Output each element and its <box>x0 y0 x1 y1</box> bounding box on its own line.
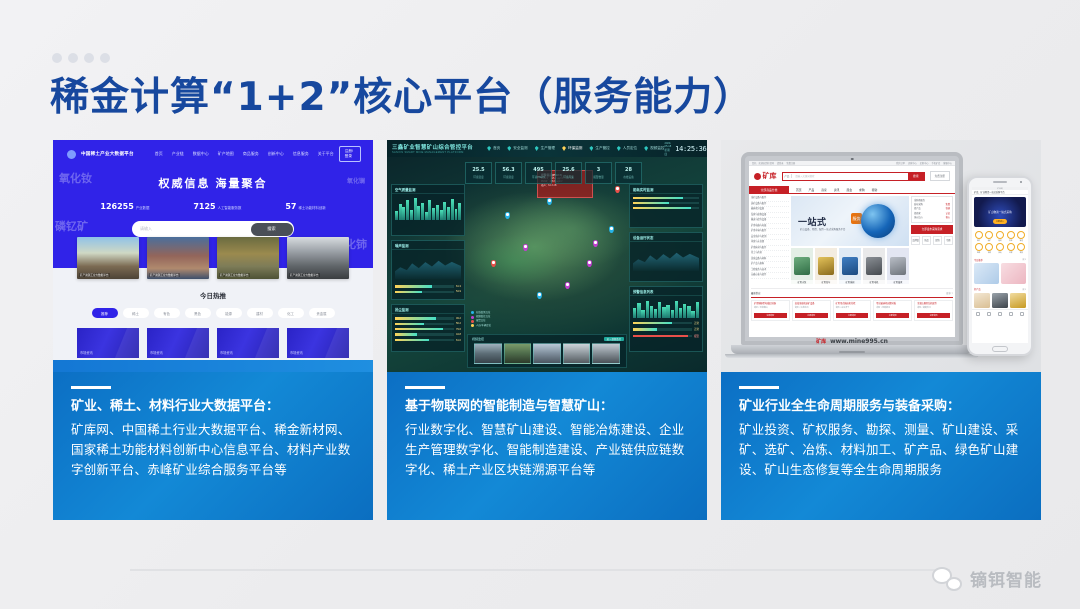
row-bar <box>395 333 454 335</box>
product-card[interactable]: 矿用绞车 <box>815 248 837 284</box>
box-row: 询价比价省心 <box>914 216 950 220</box>
portal-stat: 57 稀土功能材料创新 <box>285 202 325 211</box>
portal-stat-label: 稀土功能材料创新 <box>298 205 325 210</box>
product-row: 矿用水泵 矿用绞车 矿用球阀 矿用电机 矿用轴承 <box>791 248 909 284</box>
hero-banner[interactable]: 一站式 服务 矿山设备、物资、配件一站式采购服务平台 <box>791 196 909 246</box>
laptop-base <box>731 345 973 354</box>
row-bar <box>633 335 692 337</box>
url-brand: 矿库 <box>816 338 826 345</box>
tab-home[interactable]: 首页 <box>487 146 500 151</box>
kpi-card: 25.6环境风速 <box>555 162 582 184</box>
portal-image-caption: 矿产资源工业大数据平台 <box>289 273 320 277</box>
portal-menu-item[interactable]: 创新中心 <box>268 151 284 157</box>
caption-heading: 基于物联网的智能制造与智慧矿山： <box>405 398 691 416</box>
phone-tabbar <box>972 309 1028 316</box>
tab-personnel[interactable]: 人员定位 <box>617 146 637 151</box>
phone-mockup: 矿库网 矿库，矿业物资一站式采购平台 矿山物资一站式采购 立即进入 采矿 选矿 … <box>967 176 1033 356</box>
chart-area <box>633 245 699 271</box>
kpi-value: 56.3 <box>502 167 514 173</box>
phone-banner[interactable]: 矿山物资一站式采购 立即进入 <box>974 197 1026 227</box>
row-bar <box>395 285 454 287</box>
grid-label: 环保 <box>1009 252 1012 254</box>
item-meta: 询价 / 江苏徐州 <box>795 307 828 311</box>
tab-environment[interactable]: 环保监测 <box>562 146 582 151</box>
topbar-link[interactable]: 我的订单 <box>896 161 905 165</box>
tab-label: 生产管理 <box>541 146 555 151</box>
camera-thumb[interactable] <box>563 343 591 364</box>
portal-pill-row: 推荐 稀土 有色 黑色 能源 建材 化工 贵金属 <box>53 308 373 318</box>
row-value: 56.2 <box>456 322 461 325</box>
portal-menu-item[interactable]: 数据中心 <box>193 151 209 157</box>
portal-ghost-word: 氧化钕 <box>59 170 92 186</box>
portal-image-card[interactable]: 矿产资源工业大数据平台 <box>217 237 279 279</box>
panel-row: 正常 <box>633 321 699 325</box>
site-search-bar[interactable]: 产品 请输入关键词搜索 搜索 <box>782 172 925 181</box>
camera-thumb[interactable] <box>533 343 561 364</box>
caption-body: 行业数字化、智慧矿山建设、智能冶炼建设、企业生产管理数字化、智能制造建设、产业链… <box>405 420 691 481</box>
portal-menu-item[interactable]: 首页 <box>155 151 163 157</box>
topbar-link[interactable]: 免费注册 <box>786 161 795 165</box>
camera-title: 视频监控 <box>472 337 484 341</box>
portal-tile-label: 市场资讯 <box>220 350 233 355</box>
wechat-bubble-small <box>946 577 962 591</box>
portal-tile[interactable]: 市场资讯 <box>217 328 279 358</box>
phone-grid-item[interactable]: 电器 <box>974 243 983 254</box>
pin-icon <box>589 146 593 151</box>
phone-product-row <box>972 291 1028 309</box>
row-value: 报警 <box>694 334 699 338</box>
product-label: 矿用轴承 <box>887 280 909 284</box>
portal-pill[interactable]: 化工 <box>278 308 304 318</box>
panel-header: 噪声监测 <box>392 241 464 250</box>
category-icon <box>996 231 1004 239</box>
camera-thumbnails <box>470 343 624 364</box>
item-button[interactable]: 立即询价 <box>795 313 828 318</box>
portal-slogan: 权威信息 海量聚合 <box>53 175 373 191</box>
site-header: 矿库 产品 请输入关键词搜索 搜索 免费注册 <box>749 166 955 186</box>
caption-heading: 矿业、稀土、材料行业大数据平台： <box>71 398 357 416</box>
section-more-link[interactable]: 更多 <box>1022 288 1026 291</box>
topbar-link[interactable]: 卖家中心 <box>908 161 917 165</box>
card-lifecycle-service: 您好，欢迎来到矿库网 请登录 免费注册 我的订单 卖家中心 买家中心 手机矿库 … <box>721 140 1041 520</box>
phone-product-card[interactable] <box>992 293 1008 308</box>
portal-image-card[interactable]: 矿产资源工业大数据平台 <box>287 237 349 279</box>
portal-stat-value: 7125 <box>193 202 215 211</box>
globe-icon <box>861 204 895 238</box>
panel-row <box>633 202 699 204</box>
camera-thumb[interactable] <box>474 343 502 364</box>
decor-dot <box>84 53 94 63</box>
nav-item[interactable]: 资讯 <box>834 188 840 192</box>
section-title: 好产品 <box>974 287 981 291</box>
chip[interactable]: 新品 <box>922 236 931 245</box>
portal-tile[interactable]: 市场资讯 <box>147 328 209 358</box>
tab-video[interactable]: 视频监控 <box>644 146 664 151</box>
list-more-link[interactable]: 更多 > <box>946 291 953 295</box>
list-title: 最新供应 <box>751 291 761 295</box>
phone-grid-item[interactable]: 耗材 <box>1017 243 1026 254</box>
portal-search-button[interactable]: 搜索 <box>251 223 293 236</box>
panel-header: 空气质量监测 <box>392 185 464 194</box>
caption-heading: 矿业行业全生命周期服务与装备采购： <box>739 398 1025 416</box>
portal-menu-item[interactable]: 矿产地图 <box>218 151 234 157</box>
category-sidebar: 采矿设备与配件 选矿设备与配件 破碎筛分设备 钻探与勘探设备 输送与提升设备 矿… <box>751 196 789 284</box>
grid-label: 车辆 <box>988 252 991 254</box>
pin-icon <box>644 146 648 151</box>
topbar-link[interactable]: 客服中心 <box>943 161 952 165</box>
portal-menu-item[interactable]: 关于平台 <box>318 151 334 157</box>
panel-title: 设备运行状态 <box>633 235 653 240</box>
nav-all-categories[interactable]: 全部商品分类 <box>749 186 789 193</box>
promo-card[interactable] <box>974 263 999 284</box>
site-main: 一站式 服务 矿山设备、物资、配件一站式采购服务平台 矿用水泵 矿用绞车 矿用球… <box>791 196 909 284</box>
row-key: 询价比价 <box>914 216 923 220</box>
topbar-link[interactable]: 买家中心 <box>920 161 929 165</box>
nav-item[interactable]: 商家 <box>821 188 827 192</box>
tab-safety[interactable]: 安全监测 <box>507 146 527 151</box>
panel-row: 56.2 <box>395 322 461 325</box>
topbar-link[interactable]: 请登录 <box>777 161 784 165</box>
product-label: 矿用水泵 <box>791 280 813 284</box>
phone-product-card[interactable] <box>1010 293 1026 308</box>
portal-tile[interactable]: 市场资讯 <box>287 328 349 358</box>
portal-ghost-word: 氧化镧 <box>347 176 365 185</box>
portal-pill[interactable]: 建材 <box>247 308 273 318</box>
kpi-card: 3报警数量 <box>585 162 612 184</box>
grid-label: 选矿 <box>988 240 991 242</box>
site-body: 采矿设备与配件 选矿设备与配件 破碎筛分设备 钻探与勘探设备 输送与提升设备 矿… <box>749 194 955 286</box>
portal-stat-value: 126255 <box>100 202 133 211</box>
portal-stat: 126255 产业数据 <box>100 202 149 211</box>
topbar-link[interactable]: 手机矿库 <box>932 161 941 165</box>
panel-row: 49.2 <box>395 317 461 320</box>
phone-grid-item[interactable]: 输送 <box>1017 231 1026 242</box>
tab-label: 安全监测 <box>513 146 527 151</box>
item-meta: 询价 / 河南郑州 <box>876 307 909 311</box>
url-text: www.mine995.cn <box>830 338 888 345</box>
chart-bars <box>392 194 464 220</box>
phone-camera-icon <box>1020 181 1022 183</box>
quick-chips: 品牌馆 新品 促销 专题 <box>911 236 953 245</box>
nav-item[interactable]: 产品 <box>809 188 815 192</box>
pin-icon <box>507 146 511 151</box>
category-icon <box>996 243 1004 251</box>
portal-search-placeholder: 请输入 <box>140 226 152 232</box>
portal-pill[interactable]: 能源 <box>216 308 242 318</box>
site-right-rail: 采购商服务 发布采购免费 找产品快捷 找商家认证 询价比价省心 立即发布采购需求… <box>911 196 953 284</box>
portal-stat-label: 产业数据 <box>136 205 150 210</box>
portal-footer-bar <box>53 360 373 372</box>
panel-rows: 49.2 56.2 79.6 44.8 61.0 <box>392 314 464 345</box>
section-more-link[interactable]: 更多 <box>1022 258 1026 261</box>
camera-thumb[interactable] <box>504 343 532 364</box>
phone-banner-cta[interactable]: 立即进入 <box>993 219 1007 224</box>
portal-stat-label: 人工智能服务数 <box>218 205 242 210</box>
panel-row: 61.0 <box>395 339 461 342</box>
list-item[interactable]: 矿用隔爆型电磁起动器询价 / 河北唐山立即询价 <box>751 300 790 321</box>
category-icon <box>985 243 993 251</box>
kpi-label: 环境温度 <box>473 175 483 179</box>
dashboard-topbar: 三鑫矿业智慧矿山综合管控平台 SANXIN SMART MINE MANAGEM… <box>387 140 707 157</box>
portal-image-caption: 矿产资源工业大数据平台 <box>149 273 180 277</box>
alert-line: 噪声：64.3 dB <box>541 184 589 187</box>
nav-item[interactable]: 求购 <box>859 188 865 192</box>
item-button[interactable]: 立即询价 <box>917 313 950 318</box>
dashboard-clock: 2023-05-18 星期四 14:25:36 <box>665 142 707 156</box>
clock-time: 14:25:36 <box>675 145 706 153</box>
row-value: 79.6 <box>456 328 461 331</box>
portal-pill[interactable]: 推荐 <box>92 308 118 318</box>
panel-row <box>633 207 699 209</box>
row-bar <box>633 322 692 324</box>
tab-label: 生产管控 <box>595 146 609 151</box>
search-category-select[interactable]: 产品 <box>783 174 793 178</box>
pin-icon <box>562 146 566 151</box>
legend-row: 人员/车辆定位 <box>471 324 491 328</box>
row-value: 61.3 <box>456 285 461 288</box>
dashboard-camera-strip: 视频监控 进入视频监控 <box>467 334 627 368</box>
pin-icon <box>535 146 539 151</box>
grid-label: 耗材 <box>1020 252 1023 254</box>
page-title: 稀金计算“1+2”核心平台（服务能力） <box>50 66 753 122</box>
panel-row: 54.9 <box>395 290 461 293</box>
phone-grid-item[interactable]: 采矿 <box>974 231 983 242</box>
product-image <box>818 257 834 275</box>
decor-dot <box>52 53 62 63</box>
tab-home-icon[interactable] <box>976 312 980 316</box>
laptop-lid: 您好，欢迎来到矿库网 请登录 免费注册 我的订单 卖家中心 买家中心 手机矿库 … <box>741 152 963 345</box>
phone-speaker-icon <box>993 181 1007 183</box>
clock-date: 2023-05-18 星期四 <box>665 142 672 156</box>
phone-grid-item[interactable]: 车辆 <box>985 243 994 254</box>
panel-alerts: 预警信息列表 正常 正常 报警 <box>629 286 703 352</box>
decor-dot <box>100 53 110 63</box>
phone-screen: 矿库网 矿库，矿业物资一站式采购平台 矿山物资一站式采购 立即进入 采矿 选矿 … <box>972 187 1028 343</box>
row-bar <box>633 207 699 209</box>
portal-tile-label: 市场资讯 <box>80 350 93 355</box>
tab-label: 人员定位 <box>623 146 637 151</box>
legend-swatch-monitor-icon <box>471 311 474 314</box>
phone-banner-text: 矿山物资一站式采购 <box>988 210 1011 214</box>
chip[interactable]: 品牌馆 <box>911 236 920 245</box>
pin-icon <box>487 146 491 151</box>
legend-swatch-alarm-icon <box>471 320 474 323</box>
phone-grid-item[interactable]: 安防 <box>995 243 1004 254</box>
tab-profile-icon[interactable] <box>1020 312 1024 316</box>
tab-label: 视频监控 <box>650 146 664 151</box>
portal-tile-label: 市场资讯 <box>290 350 303 355</box>
register-button[interactable]: 免费注册 <box>930 171 950 181</box>
product-card[interactable]: 矿用轴承 <box>887 248 909 284</box>
row-val: 省心 <box>946 216 950 220</box>
panel-header: 扬尘监测 <box>392 305 464 314</box>
kpi-label: 环境PM2.5 <box>532 175 545 179</box>
grid-label: 采矿 <box>977 240 980 242</box>
phone-grid-item[interactable]: 环保 <box>1006 243 1015 254</box>
product-card[interactable]: 矿用球阀 <box>839 248 861 284</box>
phone-product-card[interactable] <box>974 293 990 308</box>
list-header: 最新供应 更多 > <box>751 289 953 298</box>
phone-grid-item[interactable]: 破碎 <box>995 231 1004 242</box>
tab-label: 首页 <box>493 146 500 151</box>
portal-pill[interactable]: 有色 <box>154 308 180 318</box>
list-item[interactable]: 全液压履带钻机配件询价 / 湖南长沙立即询价 <box>914 300 953 321</box>
phone-grid-item[interactable]: 钻探 <box>1006 231 1015 242</box>
banner-subtext: 矿山设备、物资、配件一站式采购服务平台 <box>800 227 845 231</box>
screenshot-rare-earth-portal: 中国稀土产业大数据平台 首页 产业链 数据中心 矿产地图 商品服务 创新中心 信… <box>53 140 373 372</box>
grid-label: 输送 <box>1020 240 1023 242</box>
tab-label: 环保监测 <box>568 146 582 151</box>
caption-rule <box>739 386 779 389</box>
panel-air-quality: 空气质量监测 <box>391 184 465 236</box>
product-image <box>842 257 858 275</box>
panel-title: 空气质量监测 <box>395 187 415 192</box>
chart-area <box>395 253 461 279</box>
product-image <box>794 257 810 275</box>
product-image <box>890 257 906 275</box>
caption-box: 矿业行业全生命周期服务与装备采购： 矿业投资、矿权服务、勘探、测量、矿山建设、采… <box>721 372 1041 520</box>
portal-logo-icon <box>67 150 76 159</box>
panel-title: 能耗实时监测 <box>633 187 653 192</box>
portal-tile-label: 市场资讯 <box>150 350 163 355</box>
tab-message-icon[interactable] <box>1009 312 1013 316</box>
tab-cart-icon[interactable] <box>998 312 1002 316</box>
laptop-notch <box>839 351 865 353</box>
product-card[interactable]: 矿用水泵 <box>791 248 813 284</box>
sidebar-item[interactable]: 仪器仪表与软件 <box>751 273 789 279</box>
nav-item[interactable]: 帮助 <box>872 188 878 192</box>
product-card[interactable]: 矿用电机 <box>863 248 885 284</box>
portal-hot-title: 今日热推 <box>53 290 373 300</box>
panel-rows <box>630 194 702 212</box>
wechat-icon <box>932 567 962 591</box>
product-label: 矿用电机 <box>863 280 885 284</box>
portal-pill[interactable]: 贵金属 <box>309 308 335 318</box>
row-value: 61.0 <box>456 339 461 342</box>
url-badge: 矿库 www.mine995.cn <box>741 338 963 345</box>
portal-image-cards: 矿产资源工业大数据平台 矿产资源工业大数据平台 矿产资源工业大数据平台 矿产资源… <box>53 237 373 279</box>
category-icon <box>985 231 993 239</box>
panel-energy: 能耗实时监测 <box>629 184 703 228</box>
row-bar <box>395 328 454 330</box>
portal-image-caption: 矿产资源工业大数据平台 <box>79 273 110 277</box>
category-icon <box>1017 231 1025 239</box>
portal-image-card[interactable]: 矿产资源工业大数据平台 <box>147 237 209 279</box>
phone-home-button[interactable] <box>992 346 1008 352</box>
watermark-text: 镝铒智能 <box>970 566 1042 591</box>
site-logo[interactable]: 矿库 <box>754 171 777 181</box>
row-value: 正常 <box>694 327 699 331</box>
tab-category-icon[interactable] <box>987 312 991 316</box>
dashboard-map-legend: 在线监测点位 视频监控点位 报警点位 人员/车辆定位 <box>471 311 491 328</box>
category-icon <box>1017 243 1025 251</box>
portal-pill[interactable]: 稀土 <box>123 308 149 318</box>
nav-item[interactable]: 首页 <box>796 188 802 192</box>
buyer-service-box: 采购商服务 发布采购免费 找产品快捷 找商家认证 询价比价省心 <box>911 196 953 223</box>
panel-rows: 正常 正常 报警 <box>630 318 702 341</box>
decor-dots <box>52 53 110 63</box>
tab-production[interactable]: 生产管理 <box>535 146 555 151</box>
kpi-value: 495 <box>533 167 543 173</box>
slide-root: 稀金计算“1+2”核心平台（服务能力） 中国稀土产业大数据平台 首页 产业链 数… <box>0 0 1080 609</box>
panel-title: 扬尘监测 <box>395 307 409 312</box>
search-submit-button[interactable]: 搜索 <box>908 173 924 180</box>
phone-icon-grid: 采矿 选矿 破碎 钻探 输送 电器 车辆 安防 环保 耗材 <box>972 229 1028 256</box>
portal-image-card[interactable]: 矿产资源工业大数据平台 <box>77 237 139 279</box>
portal-menu-item[interactable]: 商品服务 <box>243 151 259 157</box>
chip[interactable]: 促销 <box>933 236 942 245</box>
logo-text: 矿库 <box>763 171 777 181</box>
row-bar <box>633 197 699 199</box>
section-title: 今日推荐 <box>974 258 983 262</box>
tab-control[interactable]: 生产管控 <box>589 146 609 151</box>
chip[interactable]: 专题 <box>944 236 953 245</box>
camera-more-button[interactable]: 进入视频监控 <box>604 337 624 341</box>
panel-header: 预警信息列表 <box>630 287 702 296</box>
kpi-label: 环境风速 <box>563 175 573 179</box>
panel-dust: 扬尘监测 49.2 56.2 79.6 44.8 61.0 <box>391 304 465 352</box>
list-item[interactable]: 高效浓缩机选矿设备询价 / 江苏徐州立即询价 <box>792 300 831 321</box>
item-button[interactable]: 立即询价 <box>836 313 869 318</box>
logo-mark-icon <box>754 173 761 180</box>
product-image <box>866 257 882 275</box>
item-meta: 询价 / 河北唐山 <box>754 307 787 311</box>
portal-menu: 首页 产业链 数据中心 矿产地图 商品服务 创新中心 信息服务 关于平台 <box>155 151 334 157</box>
nav-item[interactable]: 展会 <box>846 188 852 192</box>
panel-row <box>633 197 699 199</box>
screenshot-device-mockup: 您好，欢迎来到矿库网 请登录 免费注册 我的订单 卖家中心 买家中心 手机矿库 … <box>721 140 1041 372</box>
panel-rows: 61.3 54.9 <box>392 282 464 296</box>
laptop-screen: 您好，欢迎来到矿库网 请登录 免费注册 我的订单 卖家中心 买家中心 手机矿库 … <box>749 161 955 337</box>
list-item[interactable]: 矿用带式输送机托辊询价 / 山东济宁立即询价 <box>833 300 872 321</box>
portal-login-button[interactable]: 注册/登录 <box>339 146 361 162</box>
item-button[interactable]: 立即询价 <box>754 313 787 318</box>
row-value: 正常 <box>694 321 699 325</box>
portal-menu-item[interactable]: 产业链 <box>172 151 184 157</box>
category-icon <box>1007 243 1015 251</box>
camera-thumb[interactable] <box>592 343 620 364</box>
phone-promo-cards <box>972 262 1028 286</box>
decor-dot <box>68 53 78 63</box>
phone-grid-item[interactable]: 选矿 <box>985 231 994 242</box>
portal-search-bar[interactable]: 请输入 搜索 <box>132 221 294 237</box>
portal-menu-item[interactable]: 信息服务 <box>293 151 309 157</box>
footer-divider <box>130 569 950 571</box>
topbar-link[interactable]: 您好，欢迎来到矿库网 <box>752 161 774 165</box>
list-cells: 矿用隔爆型电磁起动器询价 / 河北唐山立即询价 高效浓缩机选矿设备询价 / 江苏… <box>751 298 953 321</box>
supply-list: 最新供应 更多 > 矿用隔爆型电磁起动器询价 / 河北唐山立即询价 高效浓缩机选… <box>751 288 953 321</box>
kpi-card: 28在线设备 <box>615 162 642 184</box>
legend-swatch-camera-icon <box>471 316 474 319</box>
portal-tile[interactable]: 市场资讯 <box>77 328 139 358</box>
publish-demand-button[interactable]: 立即发布采购需求 <box>911 225 953 234</box>
dashboard-title: 三鑫矿业智慧矿山综合管控平台 <box>392 143 473 151</box>
item-button[interactable]: 立即询价 <box>876 313 909 318</box>
legend-label: 人员/车辆定位 <box>476 324 491 328</box>
product-label: 矿用绞车 <box>815 280 837 284</box>
row-bar <box>395 291 454 293</box>
portal-pill[interactable]: 黑色 <box>185 308 211 318</box>
list-item[interactable]: 颚式破碎机耐磨衬板询价 / 河南郑州立即询价 <box>873 300 912 321</box>
promo-card[interactable] <box>1001 263 1026 284</box>
row-value: 44.8 <box>456 333 461 336</box>
row-bar <box>395 317 454 319</box>
caption-rule <box>71 386 111 389</box>
kpi-value: 28 <box>625 167 632 173</box>
portal-stats: 126255 产业数据 7125 人工智能服务数 57 稀土功能材料创新 <box>53 202 373 211</box>
dashboard-subtitle: SANXIN SMART MINE MANAGEMENT PLATFORM <box>392 151 473 154</box>
caption-rule <box>405 386 445 389</box>
